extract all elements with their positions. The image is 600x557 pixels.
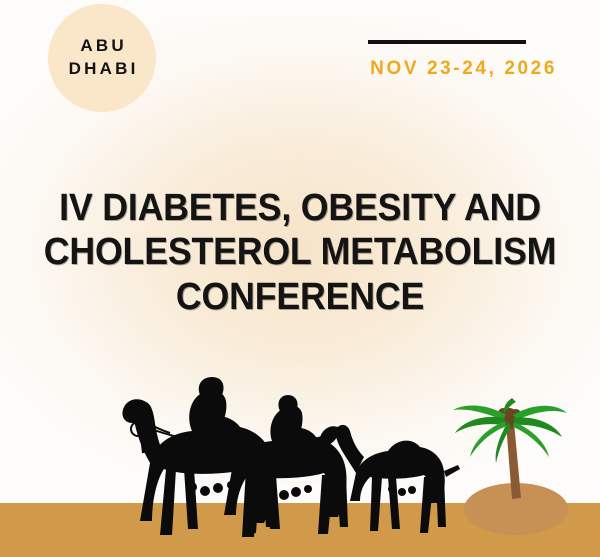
rider-head (278, 395, 297, 411)
event-date: NOV 23-24, 2026 (368, 58, 557, 80)
rider-figure (270, 406, 302, 443)
title-line-3: CONFERENCE (33, 275, 567, 319)
title-line-2: CHOLESTEROL METABOLISM (33, 230, 567, 274)
title-line-1: IV DIABETES, OBESITY AND (33, 186, 567, 230)
abu-dhabi-badge: ABU DHABI (48, 4, 156, 112)
scene-illustration (0, 377, 600, 557)
conference-poster: ABU DHABI NOV 23-24, 2026 IV DIABETES, O… (0, 0, 600, 557)
date-divider-rule (368, 40, 526, 44)
badge-line-dhabi: DHABI (65, 58, 138, 81)
badge-line-abu: ABU (77, 35, 127, 58)
date-block: NOV 23-24, 2026 (368, 40, 557, 80)
desert-scene (0, 377, 600, 557)
camel-with-rider-left (122, 377, 276, 537)
rider-head (199, 377, 224, 395)
page-title: IV DIABETES, OBESITY AND CHOLESTEROL MET… (18, 186, 582, 319)
